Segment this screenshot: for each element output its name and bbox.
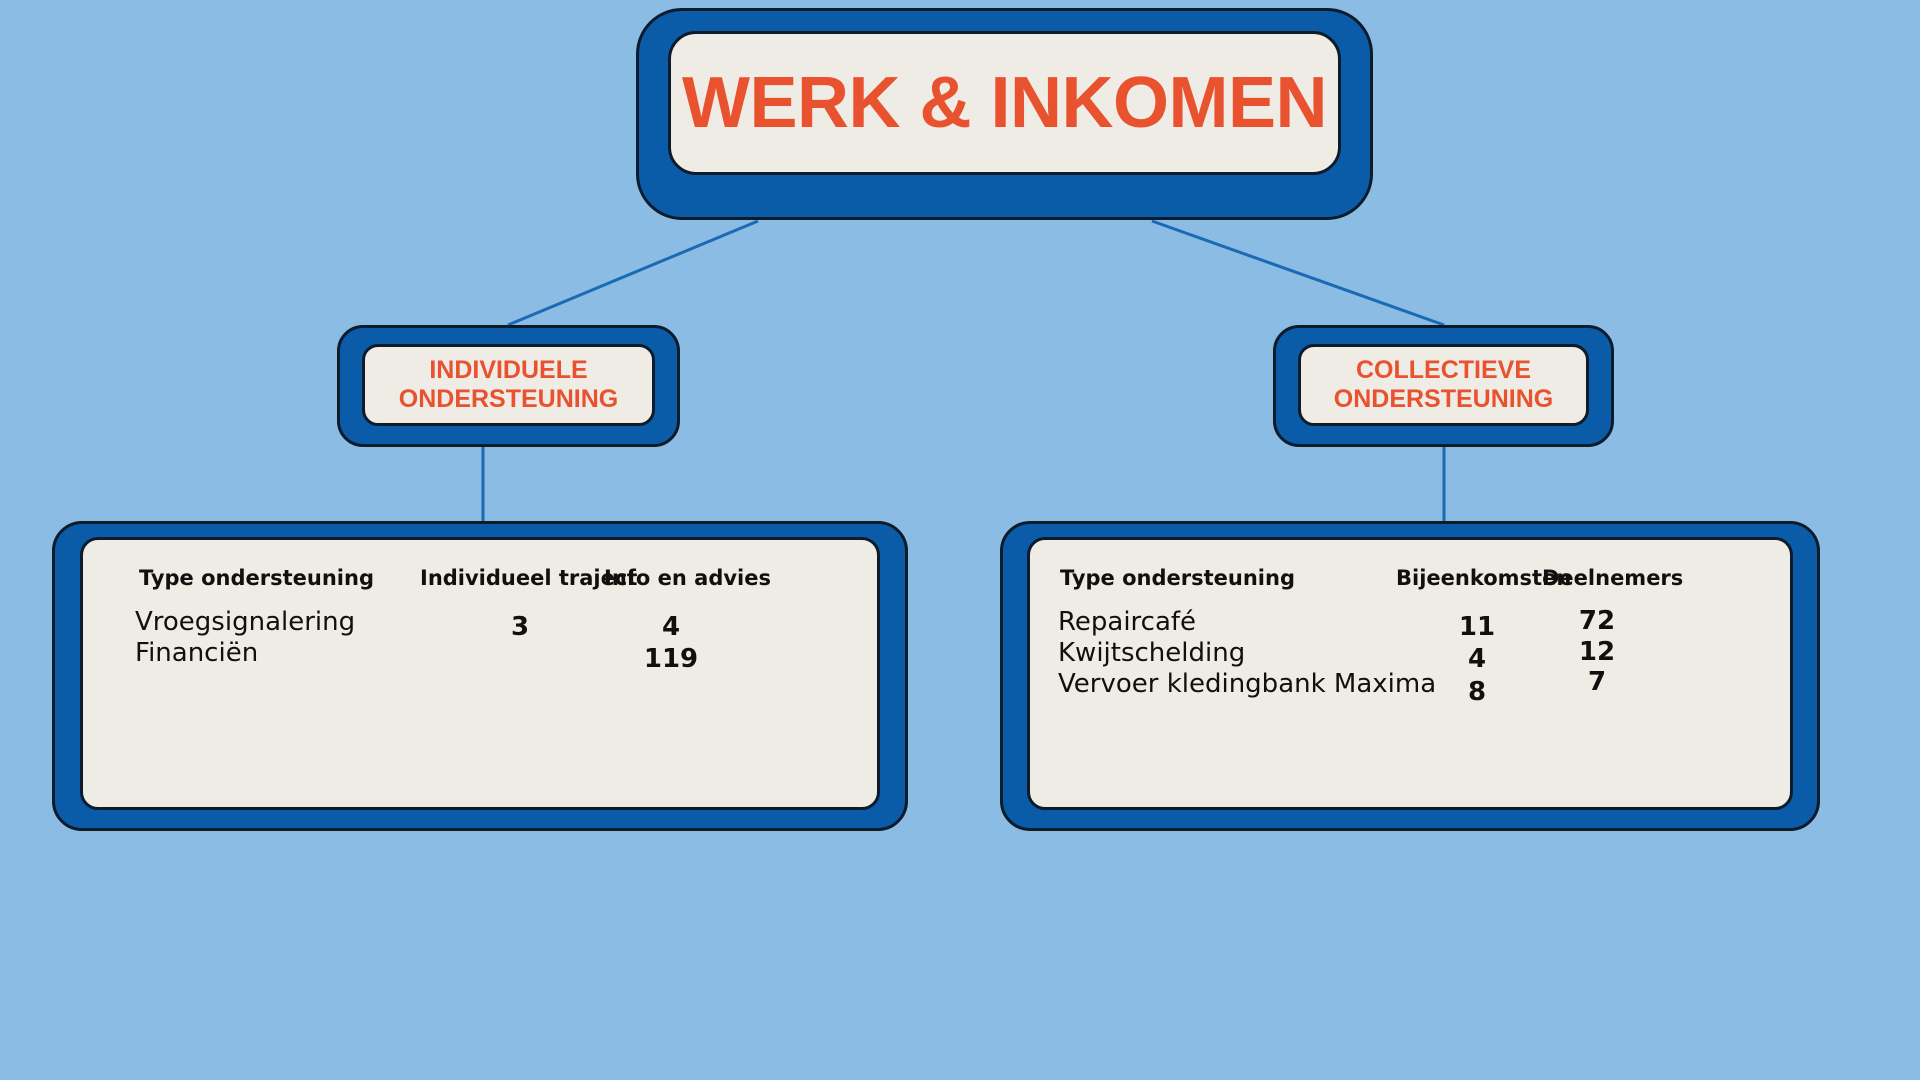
table-row: Financiën (135, 638, 258, 668)
table-panel-right: Type ondersteuning Bijeenkomsten Deelnem… (1027, 537, 1793, 810)
column-header: Deelnemers (1542, 566, 1683, 590)
branch-panel-left: INDIVIDUELE ONDERSTEUNING (362, 344, 655, 426)
table-cell-value: 119 (644, 644, 698, 674)
table-cell-value: 8 (1468, 677, 1486, 707)
table-panel-left: Type ondersteuning Individueel traject I… (80, 537, 880, 810)
table-row: Kwijtschelding (1058, 638, 1245, 668)
table-node-individuele-ondersteuning[interactable]: Type ondersteuning Individueel traject I… (52, 521, 908, 831)
title-node[interactable]: WERK & INKOMEN (636, 8, 1373, 220)
column-header: Type ondersteuning (1060, 566, 1295, 590)
connector-title-to-left (508, 221, 758, 325)
table-cell-value: 7 (1588, 667, 1606, 697)
page-title: WERK & INKOMEN (682, 67, 1327, 139)
column-header: Type ondersteuning (139, 566, 374, 590)
table-cell-value: 4 (1468, 644, 1486, 674)
table-cell-value: 3 (511, 612, 529, 642)
table-right: Type ondersteuning Bijeenkomsten Deelnem… (1030, 540, 1790, 807)
branch-node-individuele-ondersteuning[interactable]: INDIVIDUELE ONDERSTEUNING (337, 325, 680, 447)
branch-node-collectieve-ondersteuning[interactable]: COLLECTIEVE ONDERSTEUNING (1273, 325, 1614, 447)
table-row: Vroegsignalering (135, 607, 355, 637)
branch-label-left: INDIVIDUELE ONDERSTEUNING (399, 356, 618, 415)
table-cell-value: 4 (662, 612, 680, 642)
table-cell-value: 12 (1579, 637, 1615, 667)
diagram-canvas: WERK & INKOMEN INDIVIDUELE ONDERSTEUNING… (0, 0, 1920, 1080)
branch-panel-right: COLLECTIEVE ONDERSTEUNING (1298, 344, 1589, 426)
table-cell-value: 11 (1459, 612, 1495, 642)
table-row: Repaircafé (1058, 607, 1196, 637)
table-left: Type ondersteuning Individueel traject I… (83, 540, 877, 807)
table-cell-value: 72 (1579, 606, 1615, 636)
branch-label-right: COLLECTIEVE ONDERSTEUNING (1334, 356, 1553, 415)
column-header: Info en advies (604, 566, 771, 590)
table-row: Vervoer kledingbank Maxima (1058, 669, 1436, 699)
title-panel: WERK & INKOMEN (668, 31, 1341, 175)
connector-title-to-right (1152, 221, 1444, 325)
table-node-collectieve-ondersteuning[interactable]: Type ondersteuning Bijeenkomsten Deelnem… (1000, 521, 1820, 831)
